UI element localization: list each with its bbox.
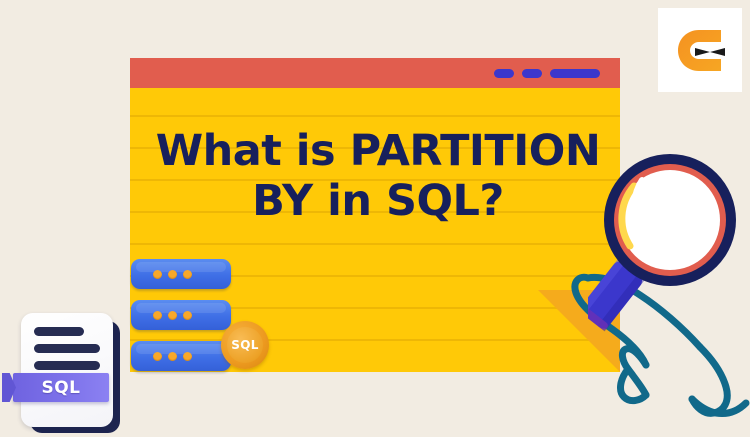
sql-ribbon-label: SQL [41, 378, 80, 398]
server-status-dots [153, 311, 192, 320]
document-text-line-3 [34, 361, 100, 370]
database-server-row-2 [131, 300, 231, 330]
page-title-line-2: BY in SQL? [138, 176, 618, 226]
document-text-line-1 [34, 327, 84, 336]
window-pill-small-2-icon [522, 69, 542, 78]
server-status-dots [153, 270, 192, 279]
sql-coin-label: SQL [231, 338, 258, 352]
database-server-row-1 [131, 259, 231, 289]
page-title-line-1: What is PARTITION [138, 126, 618, 176]
database-server-row-3 [131, 341, 231, 371]
poster-canvas: What is PARTITION BY in SQL? SQL [0, 0, 750, 437]
window-pill-wide-icon [550, 69, 600, 78]
magnifying-glass-icon [588, 150, 750, 350]
sql-coin-badge-icon: SQL [221, 321, 269, 369]
database-server-stack-icon [131, 259, 236, 377]
sql-ribbon-banner: SQL [13, 373, 109, 402]
ninja-c-mark-icon [669, 19, 731, 81]
ribbon-chevron-icon [2, 373, 16, 402]
server-status-dots [153, 352, 192, 361]
coding-ninjas-logo [658, 8, 742, 92]
page-title: What is PARTITION BY in SQL? [138, 126, 618, 226]
sql-document-icon: SQL [8, 313, 128, 437]
window-pill-small-1-icon [494, 69, 514, 78]
card-title-bar [130, 58, 620, 88]
document-page: SQL [21, 313, 113, 427]
document-text-line-2 [34, 344, 100, 353]
